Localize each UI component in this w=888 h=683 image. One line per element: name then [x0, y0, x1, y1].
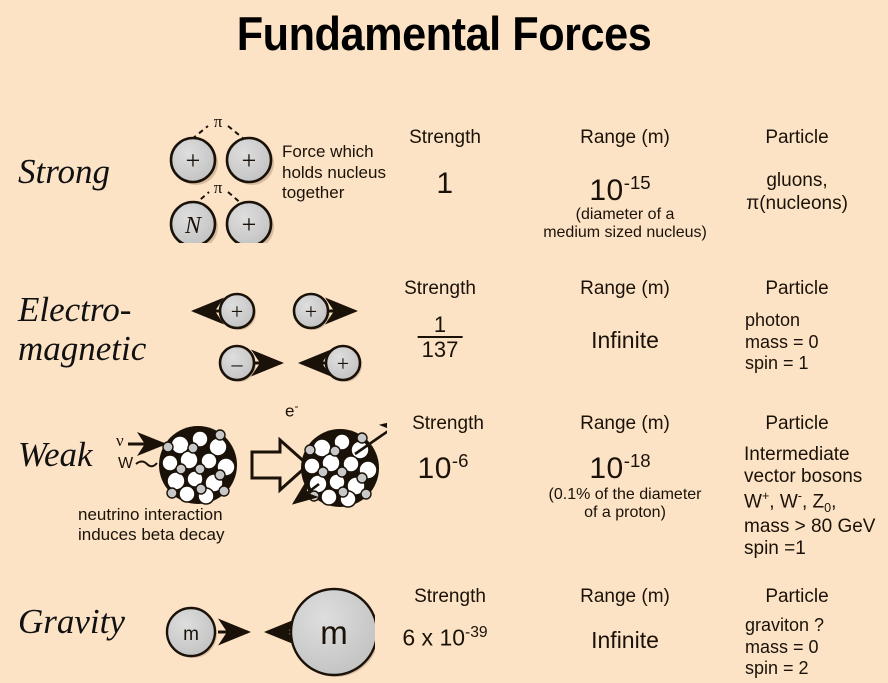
column-header-range-weak: Range (m)	[580, 413, 670, 435]
gravity-mass-diagram: m m	[160, 582, 375, 682]
force-row-weak: Weak	[0, 400, 888, 572]
svg-text:+: +	[242, 146, 257, 175]
fundamental-forces-diagram: Fundamental Forces Strong π π	[0, 0, 888, 683]
column-header-particle-em: Particle	[765, 278, 828, 300]
weak-strength-value: 10-6	[418, 450, 469, 487]
strong-strength-value: 1	[436, 167, 453, 202]
force-row-strong: Strong π π +	[0, 110, 888, 265]
column-header-strength-strong: Strength	[409, 127, 481, 149]
svg-text:–: –	[231, 351, 244, 376]
svg-text:+: +	[186, 146, 201, 175]
column-header-particle-gravity: Particle	[765, 586, 828, 608]
em-strength-fraction: 1 137	[418, 313, 463, 361]
force-label-strong: Strong	[18, 152, 110, 192]
column-header-range-strong: Range (m)	[580, 127, 670, 149]
strong-nucleus-diagram: π π + + N +	[160, 115, 290, 243]
column-header-particle-strong: Particle	[765, 127, 828, 149]
force-label-electromagnetic: Electro- magnetic	[18, 290, 146, 368]
column-header-range-em: Range (m)	[580, 278, 670, 300]
column-header-particle-weak: Particle	[765, 413, 828, 435]
column-header-strength-gravity: Strength	[414, 586, 486, 608]
svg-text:ν: ν	[116, 431, 124, 450]
gravity-particle-value: graviton ? mass = 0 spin = 2	[745, 615, 824, 680]
force-row-gravity: Gravity m m Strength 6 x 10-39	[0, 572, 888, 683]
svg-text:+: +	[242, 210, 257, 239]
strong-particle-value: gluons, π(nucleons)	[746, 170, 848, 216]
force-row-electromagnetic: Electro- magnetic + +	[0, 265, 888, 400]
svg-text:m: m	[320, 614, 348, 651]
svg-text:π: π	[214, 178, 223, 197]
electromagnetic-charge-diagram: + + – +	[182, 287, 362, 387]
force-label-gravity: Gravity	[18, 602, 125, 642]
weak-caption: neutrino interaction induces beta decay	[78, 505, 225, 546]
svg-text:π: π	[214, 115, 223, 131]
strong-range-note: (diameter of a medium sized nucleus)	[543, 206, 707, 242]
em-range-value: Infinite	[591, 327, 659, 354]
weak-range-value: 10-18	[589, 450, 650, 487]
gravity-range-value: Infinite	[591, 627, 659, 654]
svg-text:m: m	[183, 624, 199, 645]
em-particle-value: photon mass = 0 spin = 1	[745, 310, 819, 375]
force-label-weak: Weak	[18, 435, 93, 475]
strong-range-value: 10-15	[589, 172, 650, 209]
weak-range-note: (0.1% of the diameter of a proton)	[549, 486, 702, 522]
svg-text:+: +	[305, 299, 317, 324]
weak-boson-symbols: W+, W-, Z0,	[744, 489, 875, 516]
svg-text:+: +	[337, 351, 349, 376]
column-header-strength-em: Strength	[404, 278, 476, 300]
column-header-strength-weak: Strength	[412, 413, 484, 435]
page-title: Fundamental Forces	[36, 6, 853, 61]
gravity-strength-value: 6 x 10-39	[402, 624, 487, 651]
column-header-range-gravity: Range (m)	[580, 586, 670, 608]
weak-particle-value: Intermediate vector bosons W+, W-, Z0, m…	[744, 444, 875, 561]
svg-text:N: N	[184, 213, 203, 239]
svg-text:+: +	[231, 299, 243, 324]
svg-text:W: W	[118, 455, 134, 472]
strong-caption: Force which holds nucleus together	[282, 142, 386, 204]
weak-emitted-particle-label: e-	[285, 400, 298, 421]
